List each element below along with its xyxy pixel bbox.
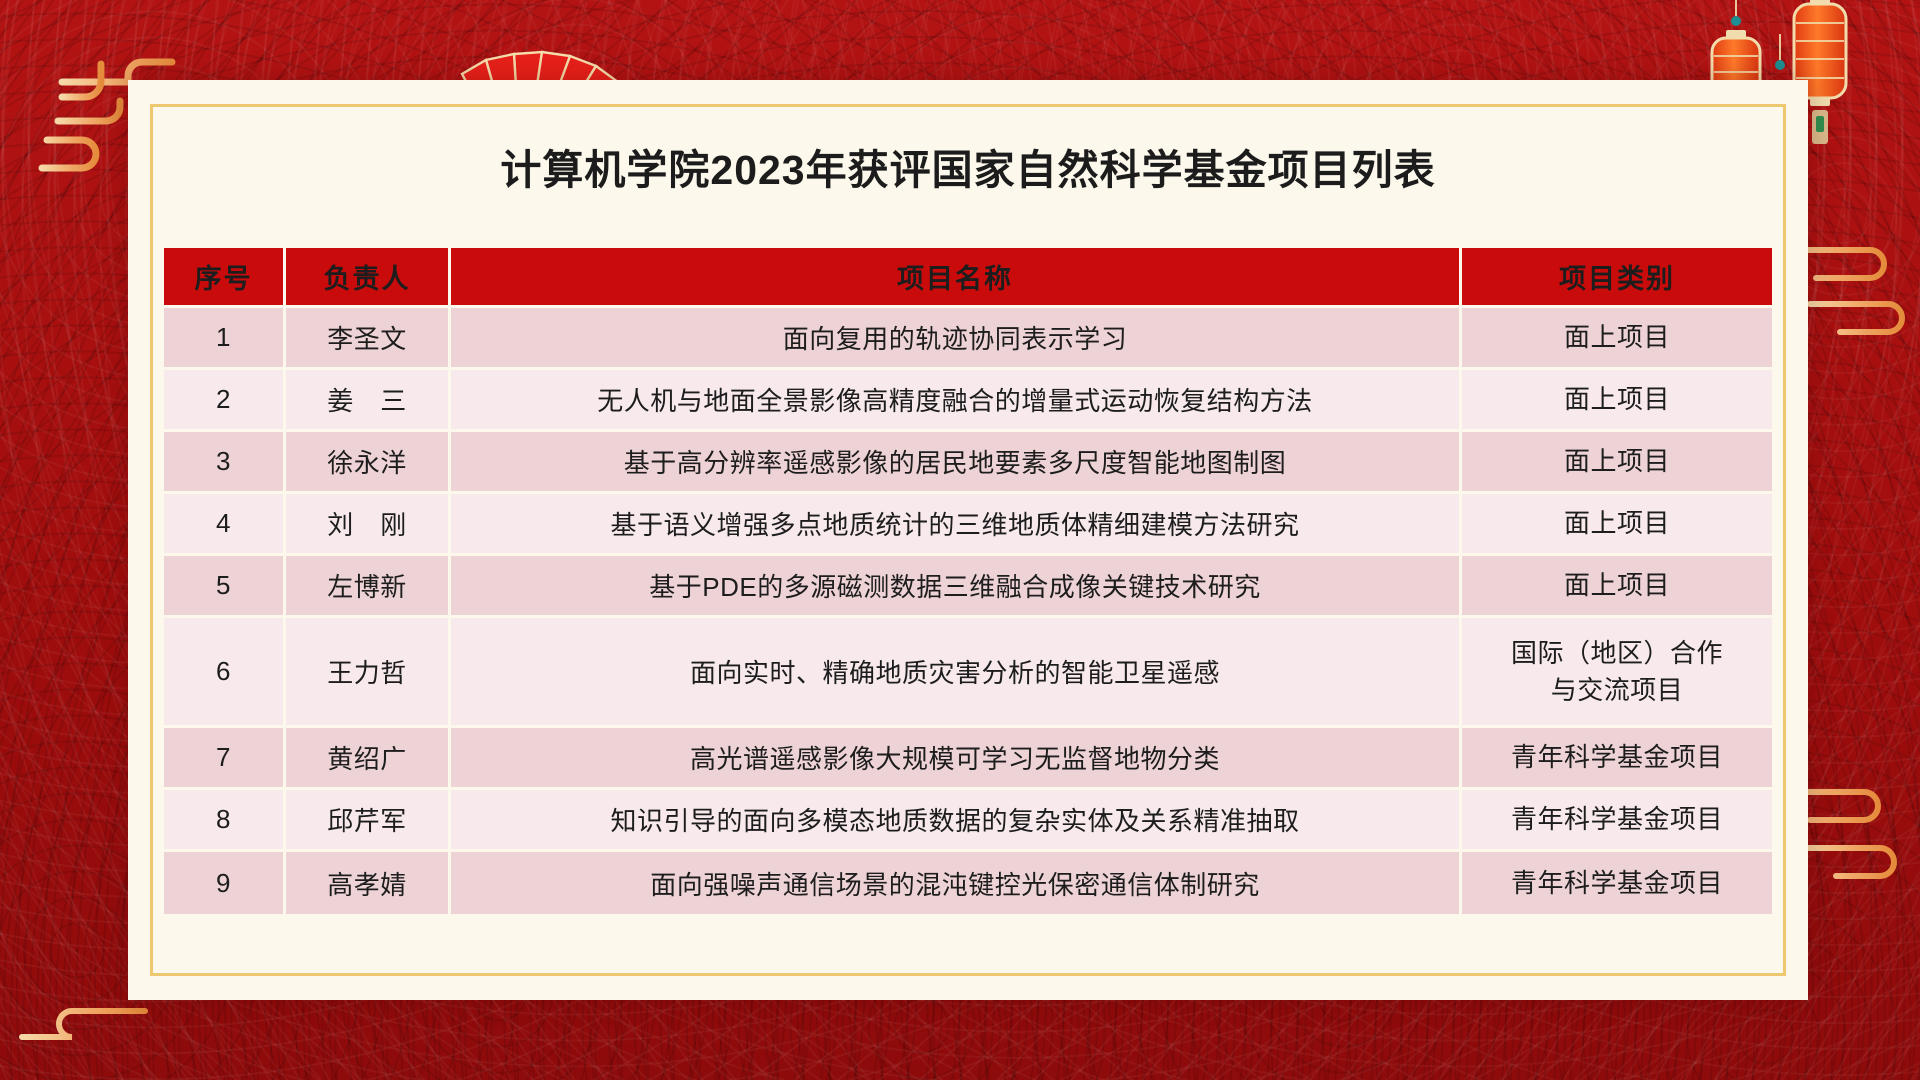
cell-category: 青年科学基金项目 [1462, 852, 1772, 914]
table-header-row: 序号 负责人 项目名称 项目类别 [164, 248, 1772, 308]
cell-project: 基于PDE的多源磁测数据三维融合成像关键技术研究 [451, 556, 1462, 618]
slide-canvas: 计算机学院2023年获评国家自然科学基金项目列表 序号 负责人 项目名称 项目类… [0, 0, 1920, 1080]
cell-category: 面上项目 [1462, 308, 1772, 370]
cell-index: 8 [164, 790, 286, 852]
cell-index: 7 [164, 728, 286, 790]
cell-project: 面向复用的轨迹协同表示学习 [451, 308, 1462, 370]
cell-category: 青年科学基金项目 [1462, 728, 1772, 790]
cell-project: 面向实时、精确地质灾害分析的智能卫星遥感 [451, 618, 1462, 728]
cell-category: 面上项目 [1462, 494, 1772, 556]
table-row: 1李圣文面向复用的轨迹协同表示学习面上项目 [164, 308, 1772, 370]
cell-index: 6 [164, 618, 286, 728]
cell-index: 4 [164, 494, 286, 556]
cell-leader: 高孝婧 [286, 852, 451, 914]
table-row: 3徐永洋基于高分辨率遥感影像的居民地要素多尺度智能地图制图面上项目 [164, 432, 1772, 494]
table-body: 1李圣文面向复用的轨迹协同表示学习面上项目2姜 三无人机与地面全景影像高精度融合… [164, 308, 1772, 914]
table-row: 4刘 刚基于语义增强多点地质统计的三维地质体精细建模方法研究面上项目 [164, 494, 1772, 556]
cell-index: 5 [164, 556, 286, 618]
cell-index: 3 [164, 432, 286, 494]
table-row: 6王力哲面向实时、精确地质灾害分析的智能卫星遥感国际（地区）合作与交流项目 [164, 618, 1772, 728]
column-header-leader: 负责人 [286, 248, 451, 308]
cell-leader: 左博新 [286, 556, 451, 618]
page-title: 计算机学院2023年获评国家自然科学基金项目列表 [128, 148, 1808, 193]
table-header: 序号 负责人 项目名称 项目类别 [164, 248, 1772, 308]
cell-leader: 王力哲 [286, 618, 451, 728]
cell-category: 青年科学基金项目 [1462, 790, 1772, 852]
column-header-index: 序号 [164, 248, 286, 308]
column-header-category: 项目类别 [1462, 248, 1772, 308]
cell-leader: 徐永洋 [286, 432, 451, 494]
cell-project: 高光谱遥感影像大规模可学习无监督地物分类 [451, 728, 1462, 790]
cell-category: 面上项目 [1462, 370, 1772, 432]
cell-category: 国际（地区）合作与交流项目 [1462, 618, 1772, 728]
table-row: 2姜 三无人机与地面全景影像高精度融合的增量式运动恢复结构方法面上项目 [164, 370, 1772, 432]
cell-index: 9 [164, 852, 286, 914]
table-row: 5左博新基于PDE的多源磁测数据三维融合成像关键技术研究面上项目 [164, 556, 1772, 618]
cell-category: 面上项目 [1462, 556, 1772, 618]
cell-leader: 黄绍广 [286, 728, 451, 790]
cell-index: 2 [164, 370, 286, 432]
cell-index: 1 [164, 308, 286, 370]
cell-category: 面上项目 [1462, 432, 1772, 494]
cell-project: 无人机与地面全景影像高精度融合的增量式运动恢复结构方法 [451, 370, 1462, 432]
table-row: 9高孝婧面向强噪声通信场景的混沌键控光保密通信体制研究青年科学基金项目 [164, 852, 1772, 914]
cell-project: 知识引导的面向多模态地质数据的复杂实体及关系精准抽取 [451, 790, 1462, 852]
cell-leader: 李圣文 [286, 308, 451, 370]
column-header-project: 项目名称 [451, 248, 1462, 308]
cell-project: 基于语义增强多点地质统计的三维地质体精细建模方法研究 [451, 494, 1462, 556]
table-row: 8邱芹军知识引导的面向多模态地质数据的复杂实体及关系精准抽取青年科学基金项目 [164, 790, 1772, 852]
cell-leader: 刘 刚 [286, 494, 451, 556]
grant-project-table: 序号 负责人 项目名称 项目类别 1李圣文面向复用的轨迹协同表示学习面上项目2姜… [164, 248, 1772, 914]
table-row: 7黄绍广高光谱遥感影像大规模可学习无监督地物分类青年科学基金项目 [164, 728, 1772, 790]
content-card: 计算机学院2023年获评国家自然科学基金项目列表 序号 负责人 项目名称 项目类… [128, 80, 1808, 1000]
cell-project: 基于高分辨率遥感影像的居民地要素多尺度智能地图制图 [451, 432, 1462, 494]
cell-leader: 邱芹军 [286, 790, 451, 852]
cell-project: 面向强噪声通信场景的混沌键控光保密通信体制研究 [451, 852, 1462, 914]
cell-leader: 姜 三 [286, 370, 451, 432]
